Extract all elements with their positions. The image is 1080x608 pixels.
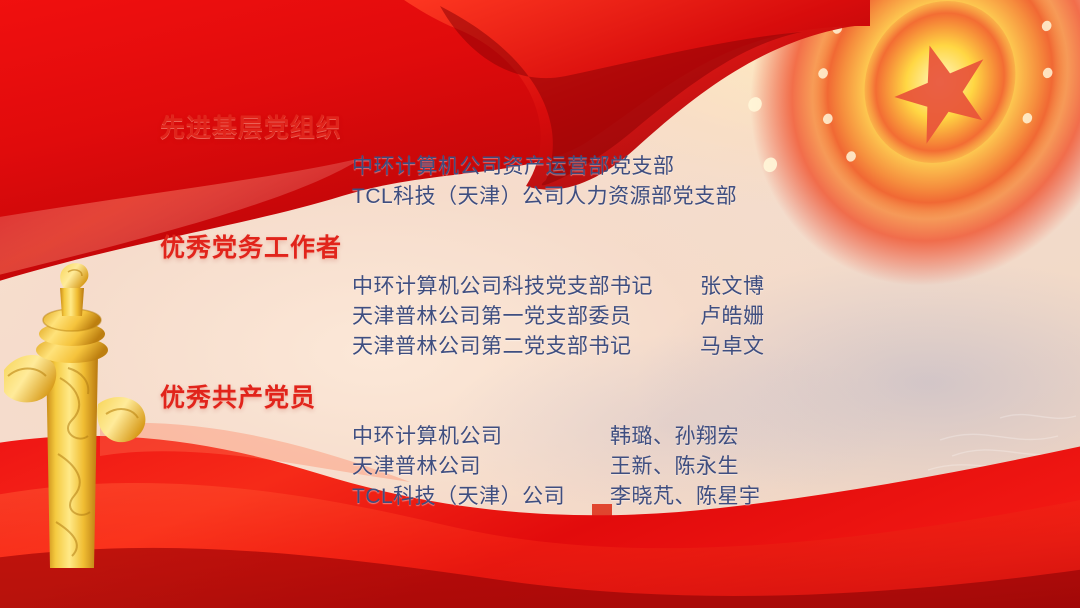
organization-name: 天津普林公司 xyxy=(352,450,610,480)
person-name: 卢皓姗 xyxy=(700,300,765,330)
list-item: 天津普林公司第二党支部书记 马卓文 xyxy=(352,330,1080,360)
section-heading: 优秀共产党员 xyxy=(160,378,1080,414)
person-name: 张文博 xyxy=(700,270,765,300)
organization-name: TCL科技（天津）公司人力资源部党支部 xyxy=(352,180,737,210)
section-advanced-party-organizations: 先进基层党组织 中环计算机公司资产运营部党支部 TCL科技（天津）公司人力资源部… xyxy=(0,108,1080,210)
person-name: 马卓文 xyxy=(700,330,765,360)
list-item: 天津普林公司 王新、陈永生 xyxy=(352,450,1080,480)
slide-content: 先进基层党组织 中环计算机公司资产运营部党支部 TCL科技（天津）公司人力资源部… xyxy=(0,0,1080,608)
section-rows: 中环计算机公司 韩璐、孙翔宏 天津普林公司 王新、陈永生 TCL科技（天津）公司… xyxy=(352,420,1080,510)
list-item: 中环计算机公司科技党支部书记 张文博 xyxy=(352,270,1080,300)
organization-name: TCL科技（天津）公司 xyxy=(352,480,610,510)
organization-name: 中环计算机公司 xyxy=(352,420,610,450)
section-heading: 优秀党务工作者 xyxy=(160,228,1080,264)
person-name: 李晓芃、陈星宇 xyxy=(610,480,761,510)
list-item: 中环计算机公司资产运营部党支部 xyxy=(352,150,1080,180)
section-rows: 中环计算机公司科技党支部书记 张文博 天津普林公司第一党支部委员 卢皓姗 天津普… xyxy=(352,270,1080,360)
person-name: 韩璐、孙翔宏 xyxy=(610,420,739,450)
section-heading: 先进基层党组织 xyxy=(160,108,1080,144)
organization-name: 中环计算机公司科技党支部书记 xyxy=(352,270,700,300)
list-item: TCL科技（天津）公司人力资源部党支部 xyxy=(352,180,1080,210)
organization-name: 天津普林公司第一党支部委员 xyxy=(352,300,700,330)
organization-name: 中环计算机公司资产运营部党支部 xyxy=(352,150,675,180)
person-name: 王新、陈永生 xyxy=(610,450,739,480)
organization-name: 天津普林公司第二党支部书记 xyxy=(352,330,700,360)
list-item: TCL科技（天津）公司 李晓芃、陈星宇 xyxy=(352,480,1080,510)
section-rows: 中环计算机公司资产运营部党支部 TCL科技（天津）公司人力资源部党支部 xyxy=(352,150,1080,210)
list-item: 天津普林公司第一党支部委员 卢皓姗 xyxy=(352,300,1080,330)
slide-canvas: 先进基层党组织 中环计算机公司资产运营部党支部 TCL科技（天津）公司人力资源部… xyxy=(0,0,1080,608)
list-item: 中环计算机公司 韩璐、孙翔宏 xyxy=(352,420,1080,450)
section-outstanding-party-members: 优秀共产党员 中环计算机公司 韩璐、孙翔宏 天津普林公司 王新、陈永生 TCL科… xyxy=(0,378,1080,510)
section-outstanding-party-workers: 优秀党务工作者 中环计算机公司科技党支部书记 张文博 天津普林公司第一党支部委员… xyxy=(0,228,1080,360)
